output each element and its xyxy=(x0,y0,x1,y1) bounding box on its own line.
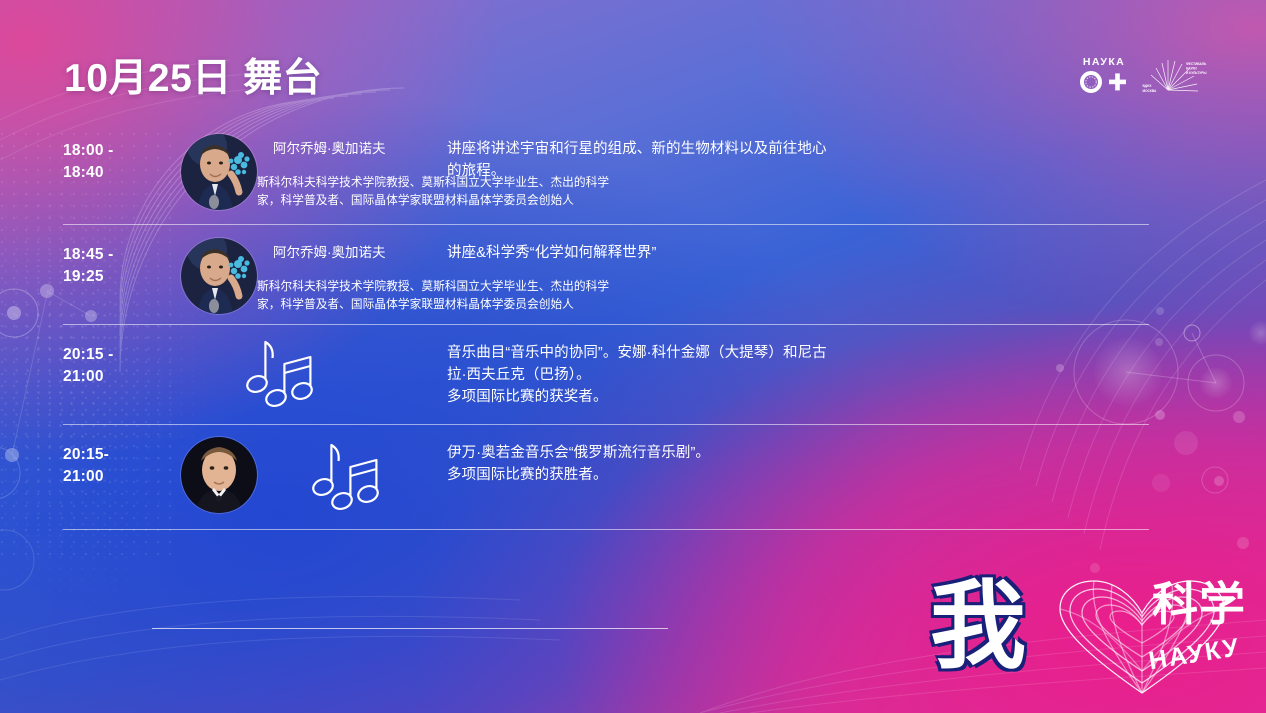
love-science-logo: 我 科学 НАУКУ xyxy=(922,569,1252,709)
svg-text:МОСКВА: МОСКВА xyxy=(1143,89,1158,93)
svg-text:ФЕСТИВАЛЬ: ФЕСТИВАЛЬ xyxy=(1186,62,1207,66)
festival-logo: ФЕСТИВАЛЬ НАУКИ И КУЛЬТУРЫ ВДНХ МОСКВА xyxy=(1142,54,1214,96)
row-time: 18:45 - 19:25 xyxy=(63,225,159,289)
row-description: 音乐曲目“音乐中的协同”。安娜·科什金娜（大提琴）和尼古 拉·西夫丘克（巴扬）。… xyxy=(429,325,1149,408)
speaker-portrait xyxy=(181,238,257,314)
music-note-icon xyxy=(311,439,381,516)
speaker-name: 阿尔乔姆·奥加诺夫 xyxy=(273,140,386,158)
love-science-kexue-characters: 科学 xyxy=(1152,581,1246,627)
row-media xyxy=(159,425,429,529)
svg-text:ВДНХ: ВДНХ xyxy=(1143,84,1153,88)
speaker-info: 阿尔乔姆·奥加诺夫 xyxy=(257,134,386,158)
svg-text:И КУЛЬТУРЫ: И КУЛЬТУРЫ xyxy=(1186,71,1206,75)
music-note-icon xyxy=(245,336,315,413)
schedule-table: 18:00 - 18:40 xyxy=(63,121,1149,630)
table-row[interactable]: 20:15- 21:00 xyxy=(63,425,1149,530)
row-time: 18:00 - 18:40 xyxy=(63,121,159,185)
page-title: 10月25日 舞台 xyxy=(64,47,322,103)
row-description: 讲座将讲述宇宙和行星的组成、新的生物材料以及前往地心 的旅程。 xyxy=(429,121,1149,182)
table-row[interactable]: 18:45 - 19:25 xyxy=(63,225,1149,325)
table-row[interactable]: 18:00 - 18:40 xyxy=(63,121,1149,225)
row-description: 伊万·奥若金音乐会“俄罗斯流行音乐剧”。 多项国际比赛的获胜者。 xyxy=(429,425,1149,486)
speaker-info: 阿尔乔姆·奥加诺夫 xyxy=(257,238,386,262)
speaker-portrait xyxy=(181,134,257,210)
slide-canvas: 10月25日 舞台 НАУКА xyxy=(0,0,1266,713)
logo-bar: НАУКА xyxy=(1080,52,1214,98)
row-time: 20:15 - 21:00 xyxy=(63,325,159,389)
row-time: 20:15- 21:00 xyxy=(63,425,159,489)
bottom-short-divider xyxy=(152,628,668,629)
svg-text:НАУКИ: НАУКИ xyxy=(1186,67,1197,71)
speaker-name: 阿尔乔姆·奥加诺夫 xyxy=(273,244,386,262)
speaker-bio: 斯科尔科夫科学技术学院教授、莫斯科国立大学毕业生、杰出的科学 家，科学普及者、国… xyxy=(257,174,657,210)
nauka-logo-word: НАУКА xyxy=(1083,57,1125,68)
table-row[interactable]: 20:15 - 21:00 音乐曲目“音乐中的协 xyxy=(63,325,1149,425)
love-science-wo-character: 我 xyxy=(930,579,1026,675)
nauka-logo: НАУКА xyxy=(1080,57,1128,93)
row-description: 讲座&科学秀“化学如何解释世界” xyxy=(429,225,1149,264)
row-media xyxy=(159,325,429,424)
nauka-zero-plus-icon xyxy=(1080,71,1128,93)
speaker-bio: 斯科尔科夫科学技术学院教授、莫斯科国立大学毕业生、杰出的科学 家，科学普及者、国… xyxy=(257,278,657,314)
speaker-portrait xyxy=(181,437,257,513)
